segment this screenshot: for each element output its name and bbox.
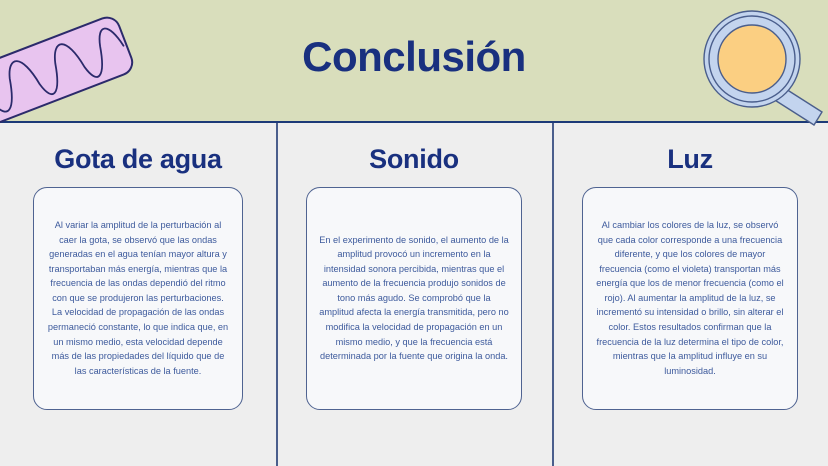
- magnifying-glass-icon: [690, 8, 828, 126]
- card-luz: Al cambiar los colores de la luz, se obs…: [582, 187, 798, 410]
- column-sonido: Sonido En el experimento de sonido, el a…: [276, 123, 552, 466]
- card-text-gota-de-agua: Al variar la amplitud de la perturbación…: [46, 218, 230, 378]
- column-title-sonido: Sonido: [369, 145, 459, 175]
- card-text-luz: Al cambiar los colores de la luz, se obs…: [595, 218, 785, 378]
- slide-canvas: Conclusión Gota de agua Al variar la amp…: [0, 0, 828, 466]
- columns-container: Gota de agua Al variar la amplitud de la…: [0, 123, 828, 466]
- card-sonido: En el experimento de sonido, el aumento …: [306, 187, 522, 410]
- card-text-sonido: En el experimento de sonido, el aumento …: [319, 233, 509, 364]
- column-title-gota-de-agua: Gota de agua: [54, 145, 221, 175]
- column-title-luz: Luz: [667, 145, 713, 175]
- column-luz: Luz Al cambiar los colores de la luz, se…: [552, 123, 828, 466]
- card-gota-de-agua: Al variar la amplitud de la perturbación…: [33, 187, 243, 410]
- column-gota-de-agua: Gota de agua Al variar la amplitud de la…: [0, 123, 276, 466]
